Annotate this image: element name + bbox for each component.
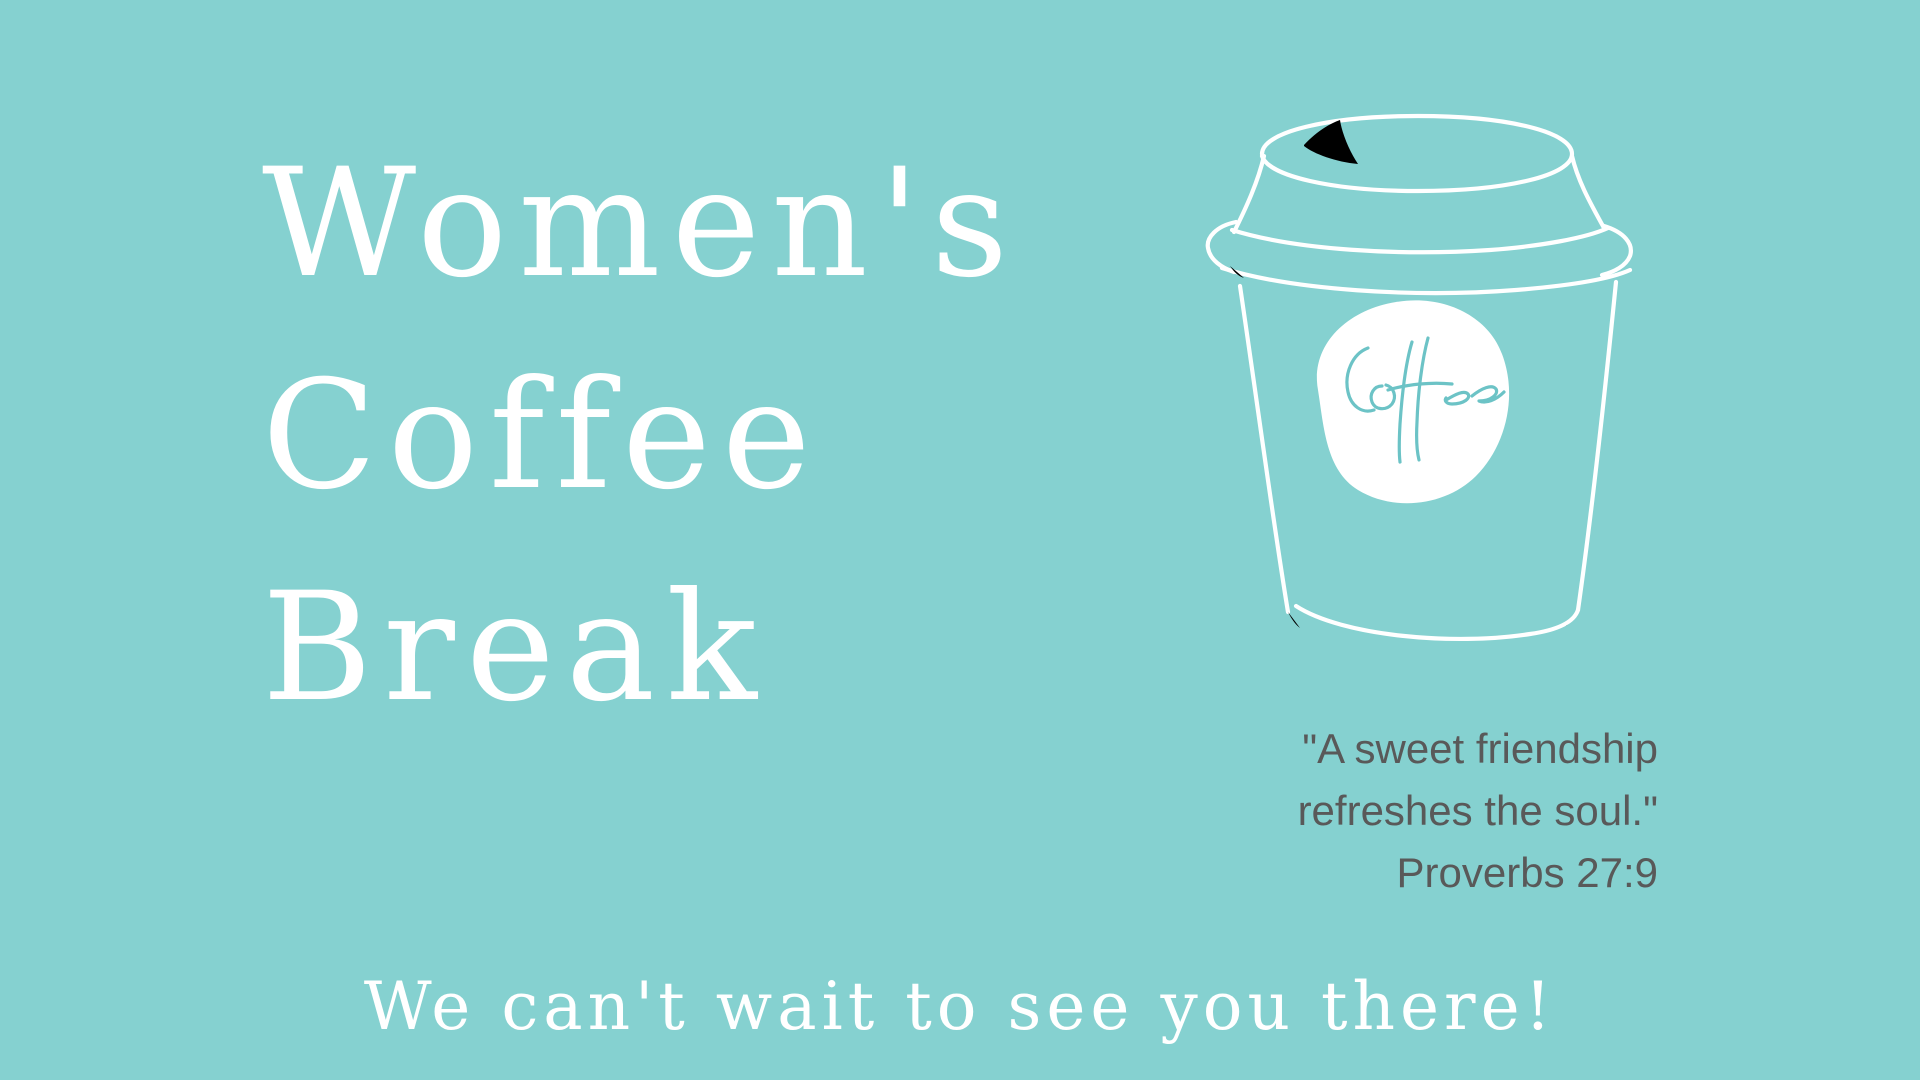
page-title: Women's Coffee Break bbox=[262, 118, 1102, 754]
scripture-quote: "A sweet friendship refreshes the soul."… bbox=[1018, 718, 1658, 904]
cup-bottom-tick-left bbox=[1288, 612, 1300, 628]
coffee-cup-illustration bbox=[1200, 90, 1640, 670]
lid-top-ellipse bbox=[1262, 116, 1572, 191]
rim-hook-right bbox=[1602, 226, 1631, 275]
lid-bottom-edge bbox=[1232, 228, 1608, 252]
title-line-1: Women's bbox=[262, 118, 1102, 330]
lid-wall-left bbox=[1234, 156, 1264, 232]
rim-band-bottom bbox=[1222, 268, 1630, 293]
lid-wall-right bbox=[1572, 156, 1604, 228]
poster-canvas: Women's Coffee Break bbox=[0, 0, 1920, 1080]
cup-bottom-edge bbox=[1296, 606, 1578, 639]
quote-line-1: "A sweet friendship bbox=[1018, 718, 1658, 780]
cup-shading-hatching bbox=[1486, 270, 1572, 630]
quote-attribution: Proverbs 27:9 bbox=[1018, 842, 1658, 904]
cup-body-right-wall bbox=[1578, 282, 1616, 610]
quote-line-2: refreshes the soul." bbox=[1018, 780, 1658, 842]
tagline: We can't wait to see you there! bbox=[0, 968, 1920, 1045]
title-line-3: Break bbox=[262, 542, 1102, 754]
title-line-2: Coffee bbox=[262, 330, 1102, 542]
cup-body-left-wall bbox=[1240, 286, 1288, 612]
